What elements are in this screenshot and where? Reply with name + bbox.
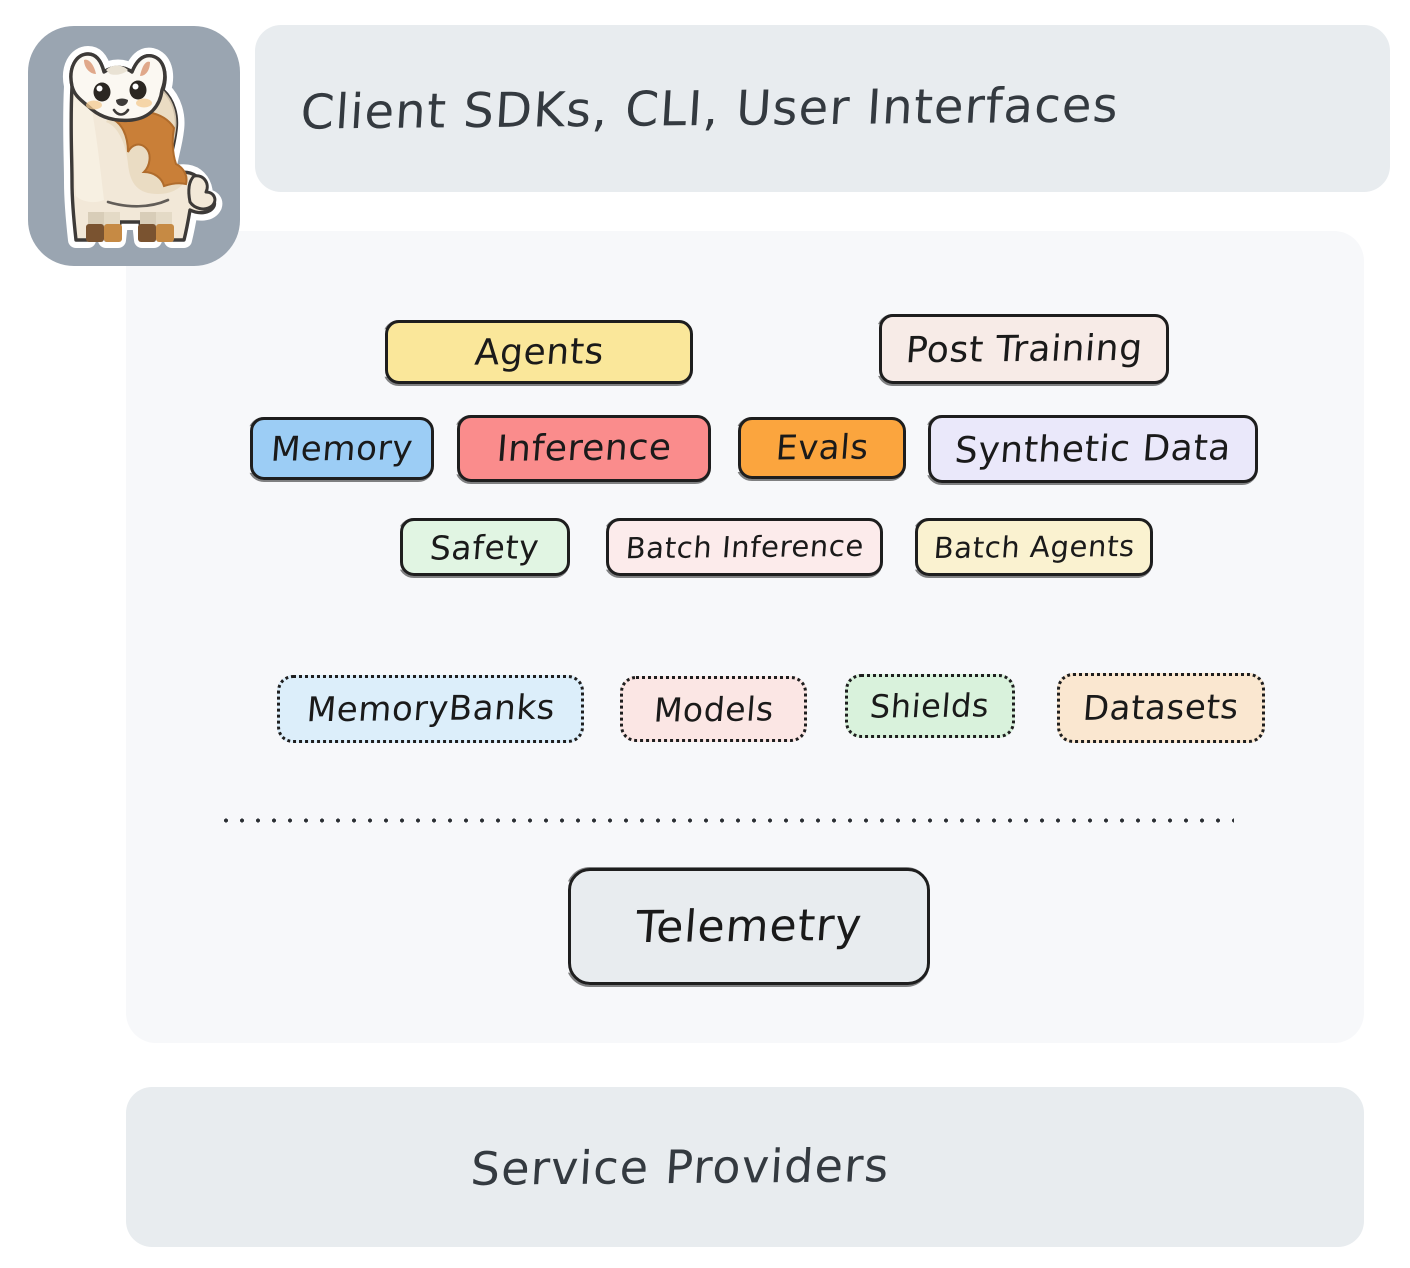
api-box-agents[interactable]: Agents — [385, 320, 693, 384]
api-box-memory[interactable]: Memory — [250, 417, 434, 480]
api-box-safety[interactable]: Safety — [400, 518, 570, 576]
diagram-canvas: Client SDKs, CLI, User Interfaces — [0, 0, 1410, 1268]
api-box-label: Post Training — [904, 327, 1144, 370]
telemetry-label: Telemetry — [634, 900, 864, 953]
telemetry-box[interactable]: Telemetry — [568, 868, 930, 985]
api-box-label: Batch Inference — [624, 529, 865, 565]
api-box-label: Safety — [429, 527, 541, 567]
api-box-evals[interactable]: Evals — [738, 417, 906, 479]
api-box-batch-inference[interactable]: Batch Inference — [606, 518, 883, 576]
service-providers-title: Service Providers — [469, 1138, 891, 1196]
llama-logo-tile — [28, 26, 240, 266]
api-box-post-training[interactable]: Post Training — [879, 314, 1169, 384]
api-box-label: Synthetic Data — [953, 427, 1232, 471]
service-providers-banner: Service Providers — [126, 1087, 1364, 1247]
resource-box-label: Shields — [869, 686, 991, 725]
resource-box-models[interactable]: Models — [620, 676, 807, 742]
dotted-separator — [218, 818, 1234, 823]
api-box-inference[interactable]: Inference — [457, 415, 711, 482]
api-box-label: Inference — [495, 427, 673, 470]
api-box-label: Batch Agents — [932, 529, 1136, 565]
resource-box-datasets[interactable]: Datasets — [1057, 673, 1265, 743]
resource-box-label: MemoryBanks — [305, 688, 556, 731]
resource-box-shields[interactable]: Shields — [845, 674, 1015, 738]
resource-box-memorybanks[interactable]: MemoryBanks — [277, 675, 584, 743]
resource-box-label: Datasets — [1082, 687, 1241, 729]
llama-icon — [28, 26, 240, 266]
client-interfaces-title: Client SDKs, CLI, User Interfaces — [299, 77, 1121, 140]
api-box-label: Memory — [269, 428, 414, 469]
api-box-label: Agents — [473, 331, 605, 373]
api-box-synthetic-data[interactable]: Synthetic Data — [928, 415, 1258, 483]
api-box-label: Evals — [774, 428, 870, 469]
api-box-batch-agents[interactable]: Batch Agents — [915, 518, 1153, 576]
resource-box-label: Models — [652, 689, 775, 729]
client-interfaces-banner: Client SDKs, CLI, User Interfaces — [255, 25, 1390, 192]
